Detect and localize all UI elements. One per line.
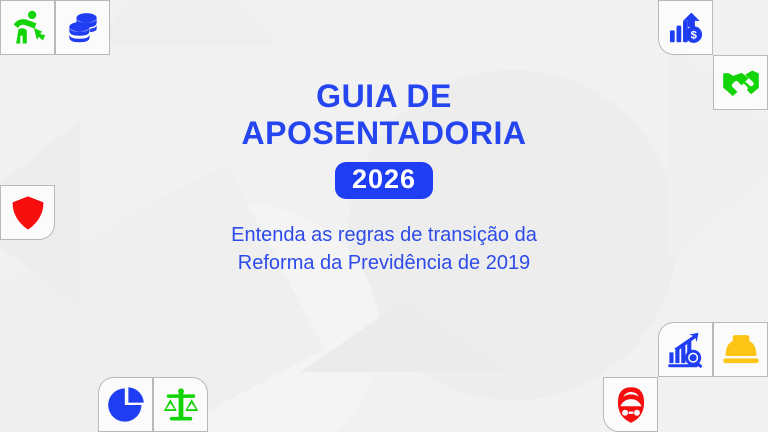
chart-search-icon [667,331,705,369]
coins-icon [64,9,102,47]
icon-tile-hard-hat [713,322,768,377]
hard-hat-icon [722,331,760,369]
page-title-line2: APOSENTADORIA [241,115,526,152]
subtitle-line1: Entenda as regras de transição da [231,221,537,249]
bg-triangle-center [300,300,510,372]
icon-tile-chart-search [658,322,713,377]
year-badge: 2026 [335,162,433,199]
icon-tile-pie-chart [98,377,153,432]
poster-content: GUIA DE APOSENTADORIA 2026 Entenda as re… [0,78,768,278]
scales-icon [162,386,200,424]
elderly-person-icon [612,386,650,424]
bg-triangle-top [90,0,280,45]
icon-tile-worker [0,0,55,55]
growth-dollar-icon: $ [667,9,705,47]
page-subtitle: Entenda as regras de transição da Reform… [231,221,537,278]
worker-icon [9,9,47,47]
svg-text:$: $ [690,29,697,41]
icon-tile-coins [55,0,110,55]
subtitle-line2: Reforma da Previdência de 2019 [231,249,537,277]
page-title-line1: GUIA DE [316,78,452,115]
icon-tile-elderly-person [603,377,658,432]
poster-canvas: $ [0,0,768,432]
icon-tile-scales [153,377,208,432]
pie-chart-icon [107,386,145,424]
icon-tile-growth-dollar: $ [658,0,713,55]
